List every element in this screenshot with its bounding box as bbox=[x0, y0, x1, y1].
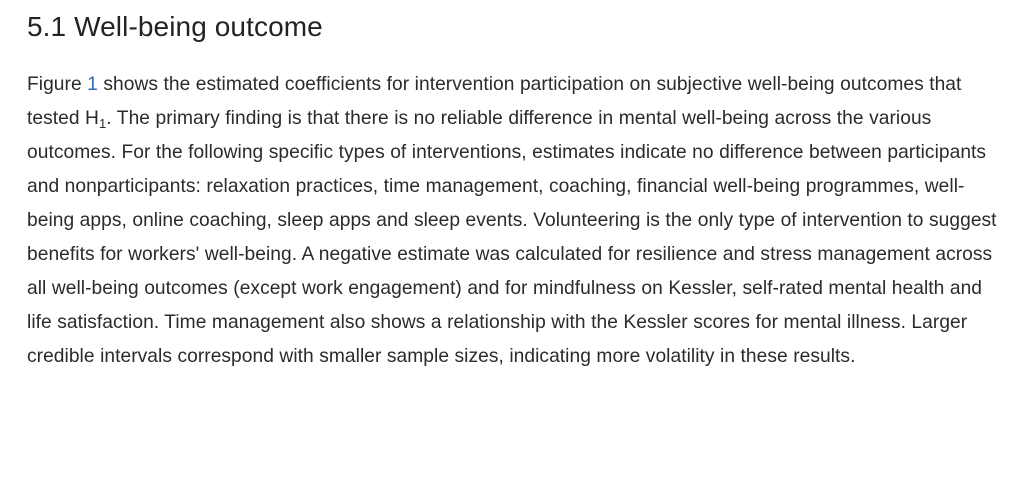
section-well-being-outcome: 5.1 Well-being outcome Figure 1 shows th… bbox=[0, 0, 1024, 374]
paragraph-text-part-1: Figure bbox=[27, 74, 87, 95]
hypothesis-subscript: 1 bbox=[99, 116, 106, 131]
document-page: 5.1 Well-being outcome Figure 1 shows th… bbox=[0, 0, 1024, 495]
section-body-paragraph: Figure 1 shows the estimated coefficient… bbox=[27, 44, 1008, 374]
figure-1-link[interactable]: 1 bbox=[87, 74, 98, 95]
paragraph-text-part-3: . The primary finding is that there is n… bbox=[27, 108, 997, 367]
section-heading: 5.1 Well-being outcome bbox=[27, 0, 1008, 44]
